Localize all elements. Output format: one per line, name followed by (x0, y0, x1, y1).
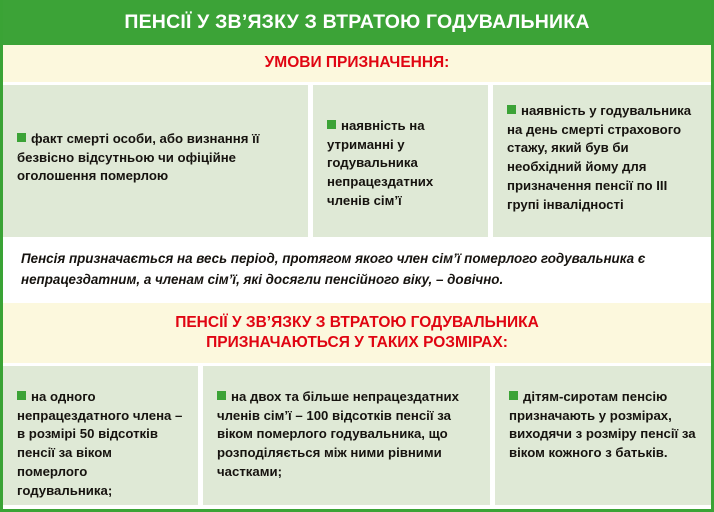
conditions-heading: УМОВИ ПРИЗНАЧЕННЯ: (265, 53, 450, 73)
square-bullet-icon (509, 391, 518, 400)
square-bullet-icon (17, 391, 26, 400)
amounts-heading-band: ПЕНСІЇ У ЗВ’ЯЗКУ З ВТРАТОЮ ГОДУВАЛЬНИКА … (3, 303, 711, 363)
note-text: Пенсія призначається на весь період, про… (21, 249, 693, 291)
amount-card-1-text: на одного непрацездатного члена – в розм… (17, 388, 184, 500)
square-bullet-icon (507, 105, 516, 114)
square-bullet-icon (17, 133, 26, 142)
amounts-heading-line-1: ПЕНСІЇ У ЗВ’ЯЗКУ З ВТРАТОЮ ГОДУВАЛЬНИКА (175, 314, 539, 331)
condition-card-3: наявність у годувальника на день смерті … (493, 85, 711, 237)
square-bullet-icon (327, 120, 336, 129)
condition-card-2: наявність на утриманні у годувальника не… (313, 85, 488, 237)
amount-card-3-label: дітям-сиротам пенсію призначають у розмі… (509, 389, 696, 460)
amounts-heading-line-2: ПРИЗНАЧАЮТЬСЯ У ТАКИХ РОЗМІРАХ: (206, 334, 508, 351)
amount-card-3-text: дітям-сиротам пенсію призначають у розмі… (509, 388, 697, 463)
amount-card-2: на двох та більше непрацездатних членів … (203, 366, 490, 505)
infographic-poster: ПЕНСІЇ У ЗВ’ЯЗКУ З ВТРАТОЮ ГОДУВАЛЬНИКА … (0, 0, 714, 512)
amount-card-2-text: на двох та більше непрацездатних членів … (217, 388, 476, 482)
condition-card-2-text: наявність на утриманні у годувальника не… (327, 117, 474, 211)
condition-card-1-text: факт смерті особи, або визнання її безві… (17, 130, 294, 186)
condition-card-3-label: наявність у годувальника на день смерті … (507, 103, 691, 212)
note-section: Пенсія призначається на весь період, про… (3, 237, 711, 303)
square-bullet-icon (217, 391, 226, 400)
condition-card-3-text: наявність у годувальника на день смерті … (507, 102, 697, 214)
page-title: ПЕНСІЇ У ЗВ’ЯЗКУ З ВТРАТОЮ ГОДУВАЛЬНИКА (124, 13, 589, 33)
conditions-card-row: факт смерті особи, або визнання її безві… (3, 85, 711, 237)
amount-card-1-label: на одного непрацездатного члена – в розм… (17, 389, 182, 498)
condition-card-1-label: факт смерті особи, або визнання її безві… (17, 131, 260, 183)
amounts-card-row: на одного непрацездатного члена – в розм… (3, 366, 711, 505)
amount-card-2-label: на двох та більше непрацездатних членів … (217, 389, 459, 479)
amount-card-1: на одного непрацездатного члена – в розм… (3, 366, 198, 505)
poster-title-banner: ПЕНСІЇ У ЗВ’ЯЗКУ З ВТРАТОЮ ГОДУВАЛЬНИКА (0, 0, 714, 45)
condition-card-2-label: наявність на утриманні у годувальника не… (327, 118, 433, 208)
amounts-heading: ПЕНСІЇ У ЗВ’ЯЗКУ З ВТРАТОЮ ГОДУВАЛЬНИКА … (175, 313, 539, 354)
amount-card-3: дітям-сиротам пенсію призначають у розмі… (495, 366, 711, 505)
conditions-heading-band: УМОВИ ПРИЗНАЧЕННЯ: (3, 45, 711, 82)
condition-card-1: факт смерті особи, або визнання її безві… (3, 85, 308, 237)
